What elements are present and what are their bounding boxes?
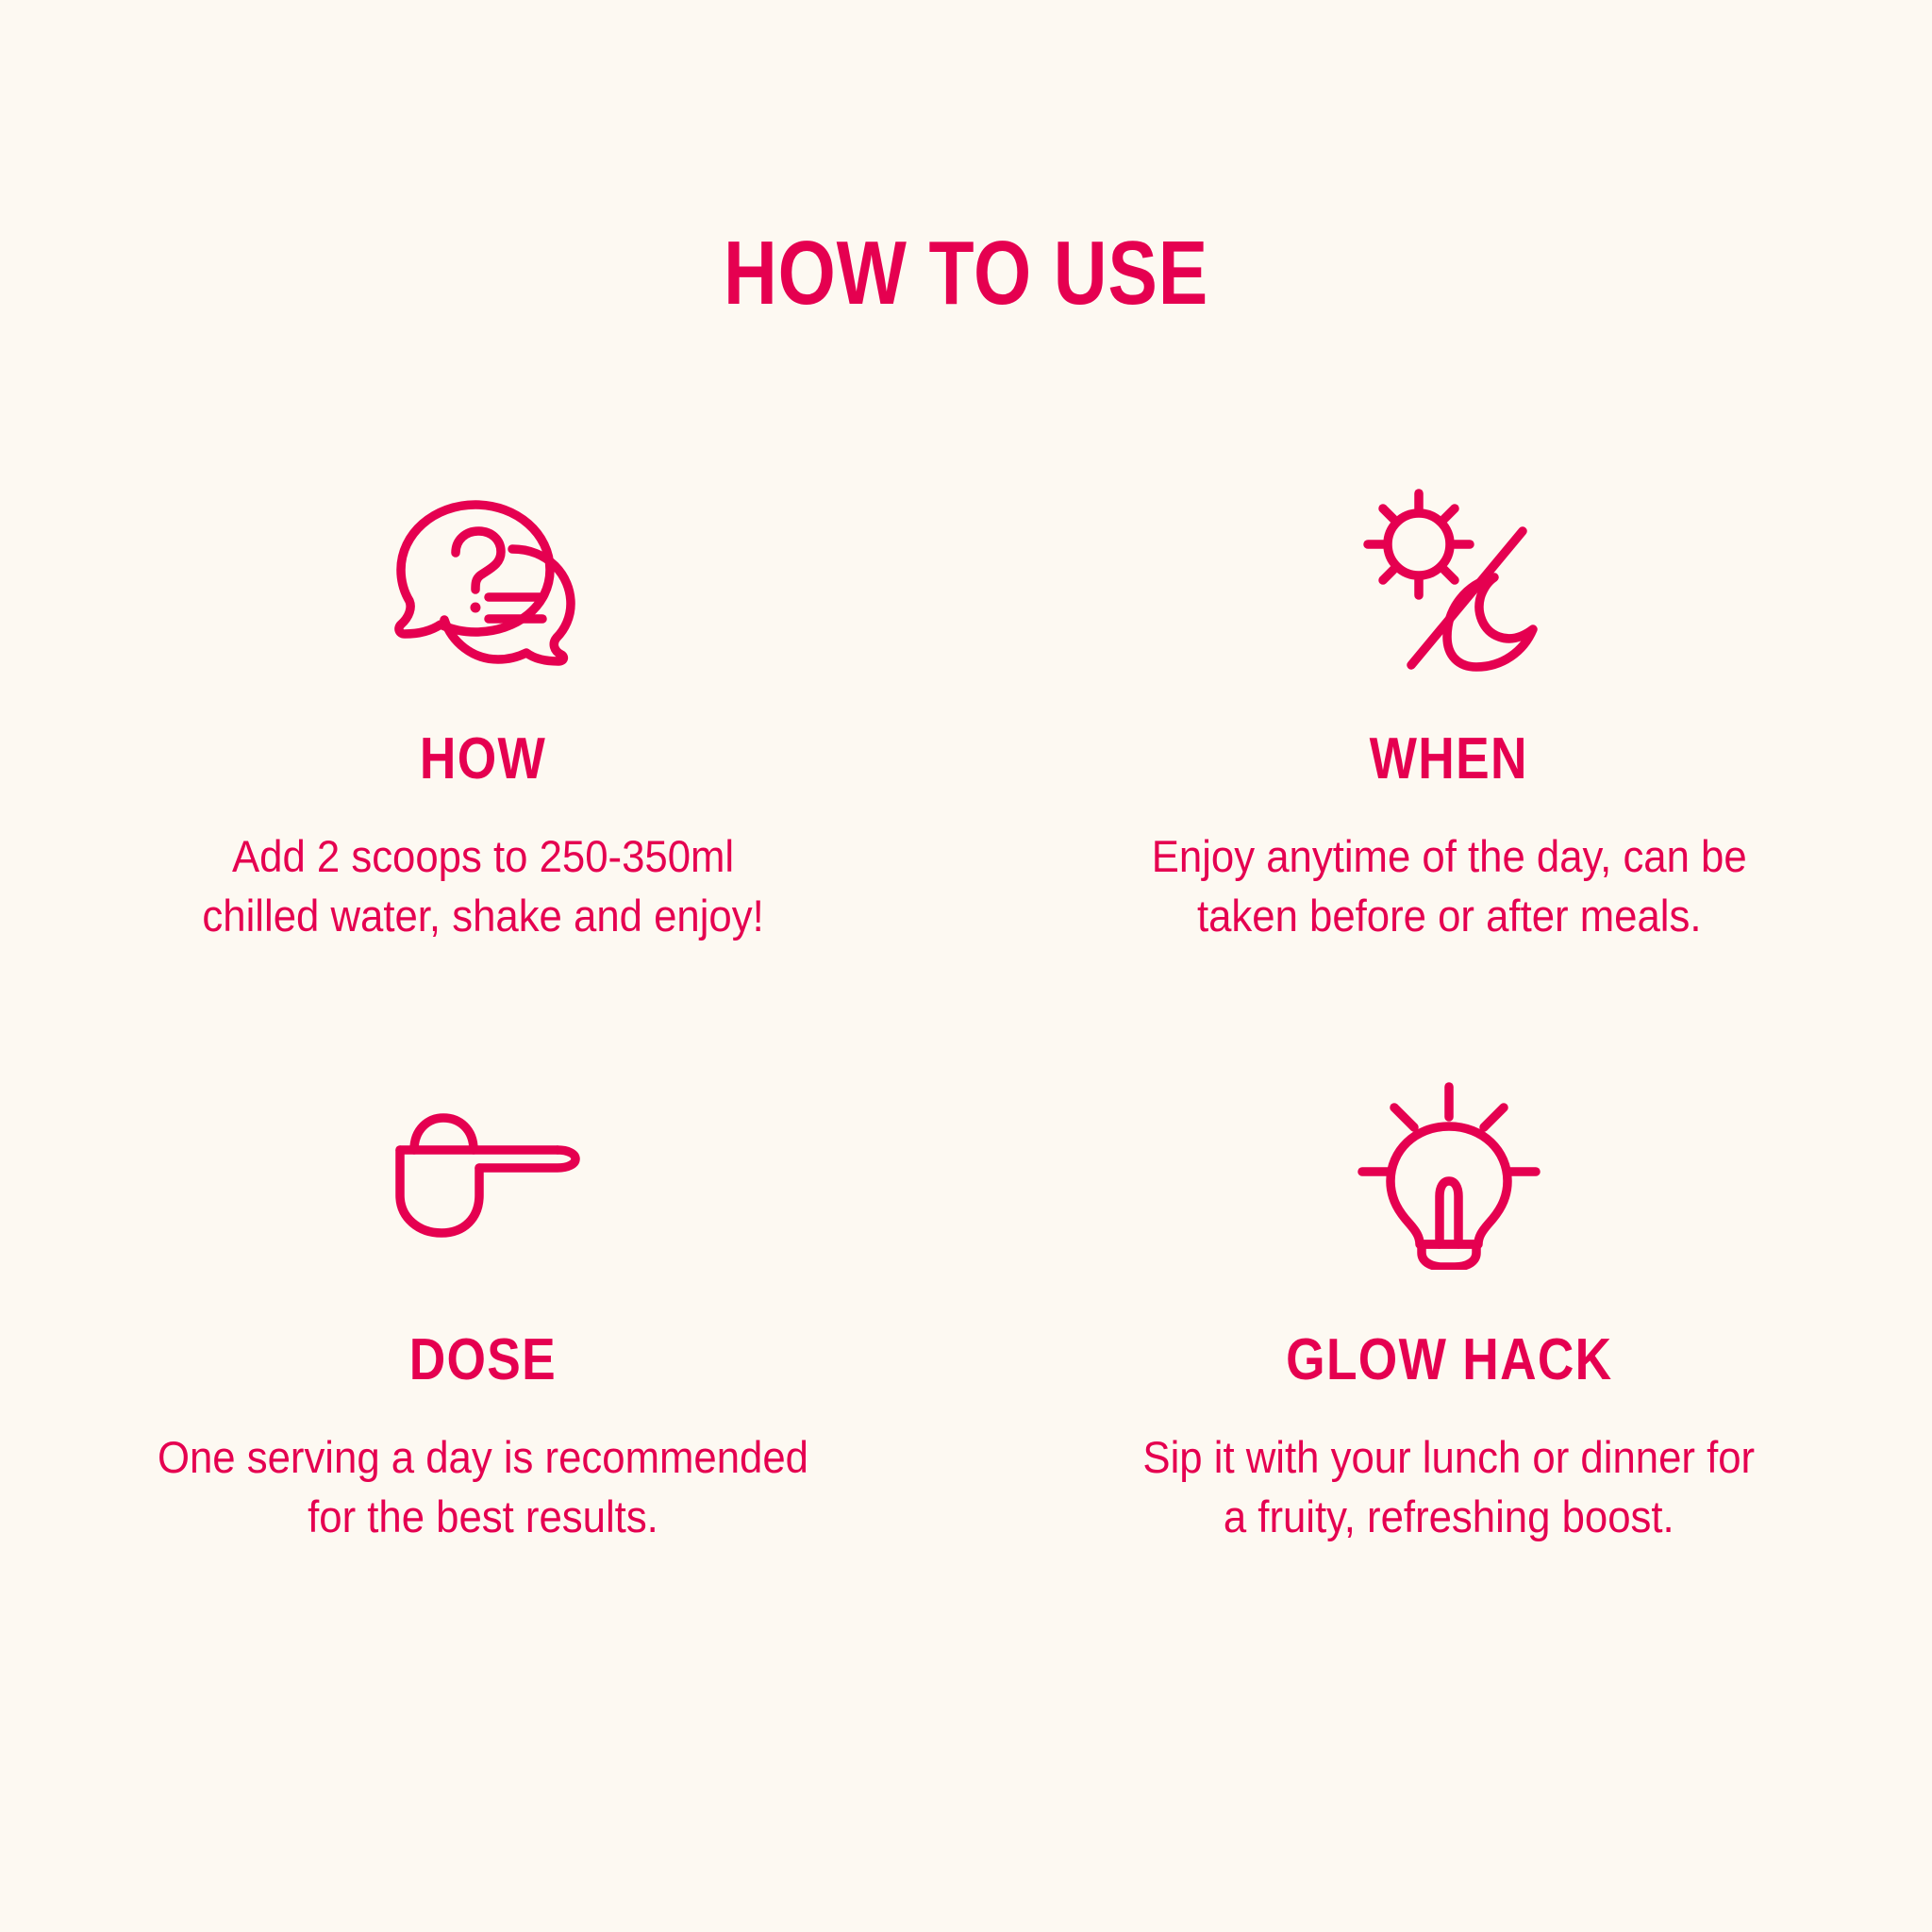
how-to-use-infographic: HOW TO USE HOW Add 2 scoops to 250-350ml… [0, 0, 1932, 1932]
page-title: HOW TO USE [174, 228, 1757, 319]
section-how: HOW Add 2 scoops to 250-350ml chilled wa… [0, 472, 966, 946]
section-body-glow-hack: Sip it with your lunch or dinner for a f… [1143, 1427, 1756, 1547]
measuring-scoop-icon [383, 1058, 583, 1293]
section-title-how: HOW [420, 730, 546, 789]
section-dose: DOSE One serving a day is recommended fo… [0, 1058, 966, 1547]
section-body-when: Enjoy anytime of the day, can be taken b… [1152, 826, 1747, 946]
section-body-how: Add 2 scoops to 250-350ml chilled water,… [202, 826, 763, 946]
lightbulb-icon [1357, 1058, 1541, 1293]
section-title-dose: DOSE [409, 1331, 557, 1390]
section-title-when: WHEN [1370, 730, 1528, 789]
section-title-glow-hack: GLOW HACK [1286, 1331, 1612, 1390]
sun-moon-icon [1353, 472, 1546, 689]
section-glow-hack: GLOW HACK Sip it with your lunch or dinn… [966, 1058, 1932, 1547]
section-when: WHEN Enjoy anytime of the day, can be ta… [966, 472, 1932, 946]
instruction-grid: HOW Add 2 scoops to 250-350ml chilled wa… [0, 472, 1932, 1547]
section-body-dose: One serving a day is recommended for the… [158, 1427, 808, 1547]
speech-bubbles-question-icon [386, 472, 580, 689]
